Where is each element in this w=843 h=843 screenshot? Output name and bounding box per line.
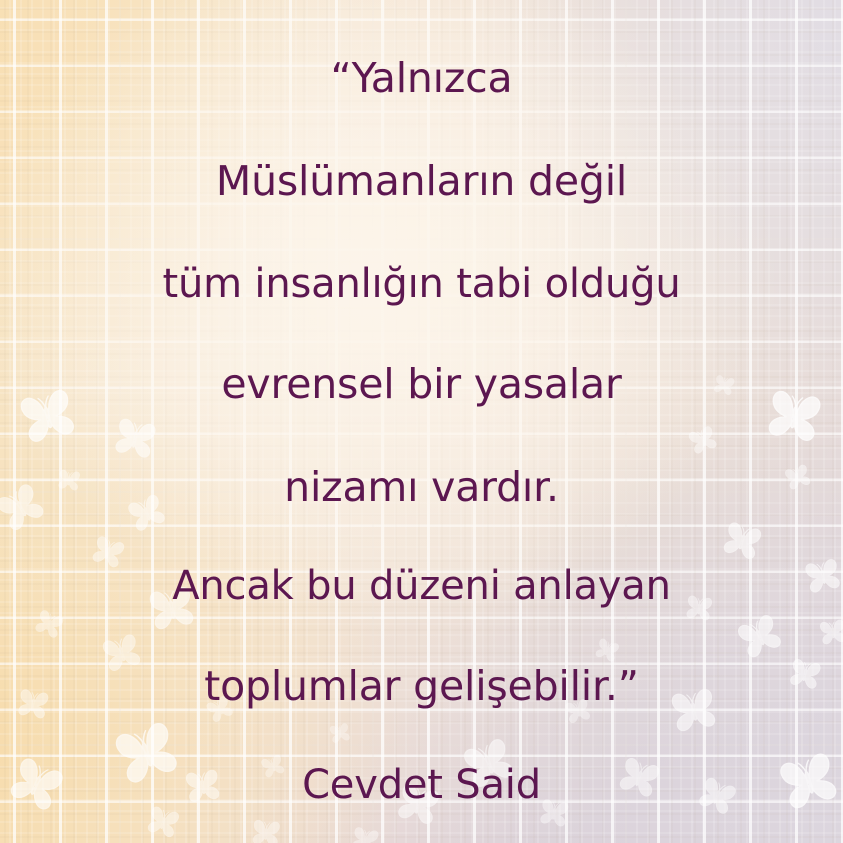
quote-line-5: nizamı vardır. [0, 467, 843, 508]
quote-line-1: “Yalnızca [0, 58, 843, 99]
quote-attribution: Cevdet Said [0, 765, 843, 805]
quote-line-6: Ancak bu düzeni anlayan [0, 566, 843, 606]
quote-line-4: evrensel bir yasalar [0, 364, 843, 405]
quote-line-2: Müslümanların değil [0, 161, 843, 202]
quote-line-3: tüm insanlığın tabi olduğu [0, 264, 843, 304]
quote-text-block: “Yalnızca Müslümanların değil tüm insanl… [0, 0, 843, 843]
quote-card: “Yalnızca Müslümanların değil tüm insanl… [0, 0, 843, 843]
quote-line-7: toplumlar gelişebilir.” [0, 666, 843, 707]
